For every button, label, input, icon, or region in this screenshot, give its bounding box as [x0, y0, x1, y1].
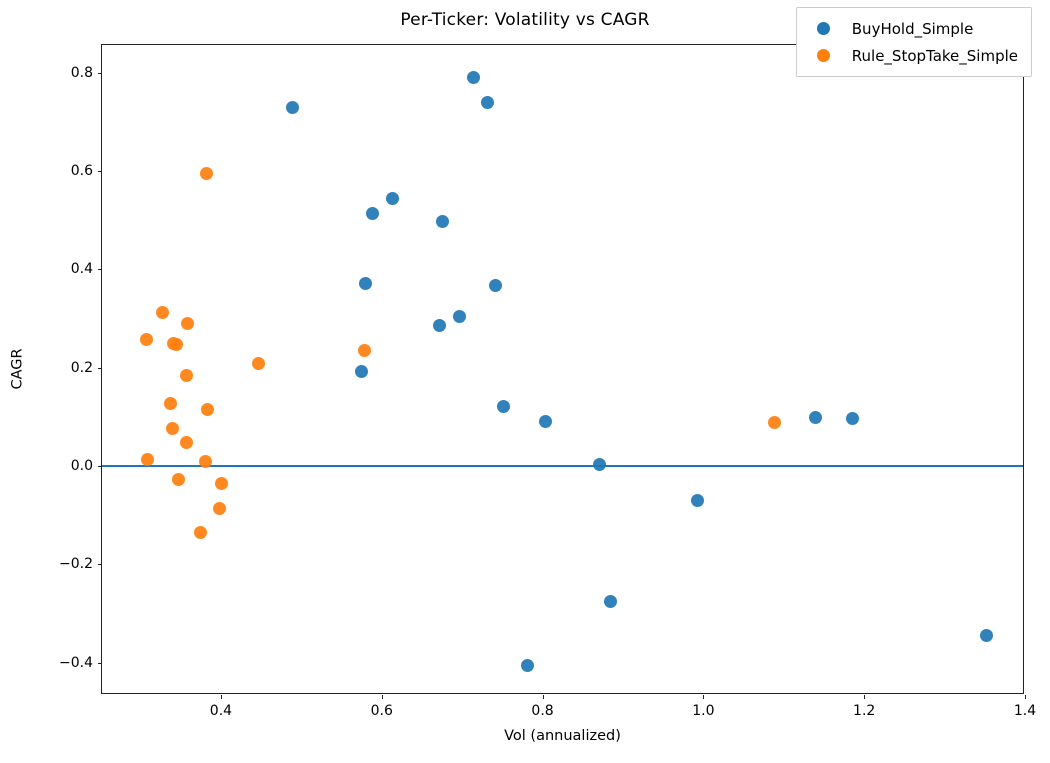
- legend-entry-label: Rule_StopTake_Simple: [852, 47, 1018, 65]
- y-axis-tick-label: 0.0: [71, 458, 93, 474]
- data-point: [170, 338, 183, 351]
- data-point: [366, 207, 379, 220]
- x-axis-tick-label: 0.4: [210, 703, 232, 719]
- x-axis-tick: [703, 695, 704, 699]
- data-point: [201, 403, 214, 416]
- data-point: [481, 96, 494, 109]
- y-axis-tick-label: 0.2: [71, 360, 93, 376]
- data-point: [252, 357, 265, 370]
- data-point: [846, 412, 859, 425]
- data-point: [436, 215, 449, 228]
- data-point: [358, 344, 371, 357]
- data-point: [489, 279, 502, 292]
- legend-entry-rule-stoptake[interactable]: Rule_StopTake_Simple: [807, 42, 1018, 69]
- data-point: [172, 473, 185, 486]
- y-axis-tick-label: 0.6: [71, 163, 93, 179]
- data-point: [433, 319, 446, 332]
- x-axis-tick: [382, 695, 383, 699]
- data-point: [980, 629, 993, 642]
- data-point: [453, 310, 466, 323]
- x-axis-tick: [864, 695, 865, 699]
- data-point: [166, 422, 179, 435]
- data-point: [213, 502, 226, 515]
- data-point: [497, 400, 510, 413]
- data-point: [768, 416, 781, 429]
- data-point: [467, 71, 480, 84]
- y-axis-label: CAGR: [8, 44, 28, 694]
- data-point: [141, 453, 154, 466]
- zero-reference-line: [102, 465, 1023, 467]
- x-axis-tick-label: 0.6: [371, 703, 393, 719]
- y-axis-tick-label: 0.8: [71, 65, 93, 81]
- x-axis-tick: [221, 695, 222, 699]
- data-point: [521, 659, 534, 672]
- x-axis-tick-label: 1.2: [853, 703, 875, 719]
- x-axis-tick: [1025, 695, 1026, 699]
- data-point: [593, 458, 606, 471]
- legend: BuyHold_Simple Rule_StopTake_Simple: [796, 7, 1032, 77]
- y-axis-label-text: CAGR: [10, 348, 26, 389]
- data-points-layer: [102, 45, 1023, 693]
- legend-entry-label: BuyHold_Simple: [852, 20, 974, 38]
- y-axis-tick-label: 0.4: [71, 261, 93, 277]
- x-axis-tick-label: 1.0: [692, 703, 714, 719]
- data-point: [286, 101, 299, 114]
- y-axis-tick-label: −0.2: [59, 556, 93, 572]
- data-point: [156, 306, 169, 319]
- data-point: [355, 365, 368, 378]
- data-point: [164, 397, 177, 410]
- data-point: [200, 167, 213, 180]
- x-axis-tick: [543, 695, 544, 699]
- data-point: [140, 333, 153, 346]
- scatter-plot-figure: Per-Ticker: Volatility vs CAGR CAGR 0.40…: [0, 0, 1050, 763]
- data-point: [604, 595, 617, 608]
- x-axis-tick-label: 1.4: [1014, 703, 1036, 719]
- plot-area: 0.40.60.81.01.21.40.80.60.40.20.0−0.2−0.…: [101, 44, 1024, 694]
- data-point: [809, 411, 822, 424]
- data-point: [194, 526, 207, 539]
- data-point: [181, 317, 194, 330]
- legend-entry-buyhold[interactable]: BuyHold_Simple: [807, 15, 1018, 42]
- y-axis-tick-label: −0.4: [59, 655, 93, 671]
- data-point: [691, 494, 704, 507]
- data-point: [215, 477, 228, 490]
- x-axis-label: Vol (annualized): [101, 728, 1024, 744]
- legend-marker-icon: [817, 49, 830, 62]
- data-point: [539, 415, 552, 428]
- data-point: [386, 192, 399, 205]
- legend-marker-icon: [817, 22, 830, 35]
- x-axis-tick-label: 0.8: [531, 703, 553, 719]
- data-point: [180, 369, 193, 382]
- data-point: [359, 277, 372, 290]
- data-point: [180, 436, 193, 449]
